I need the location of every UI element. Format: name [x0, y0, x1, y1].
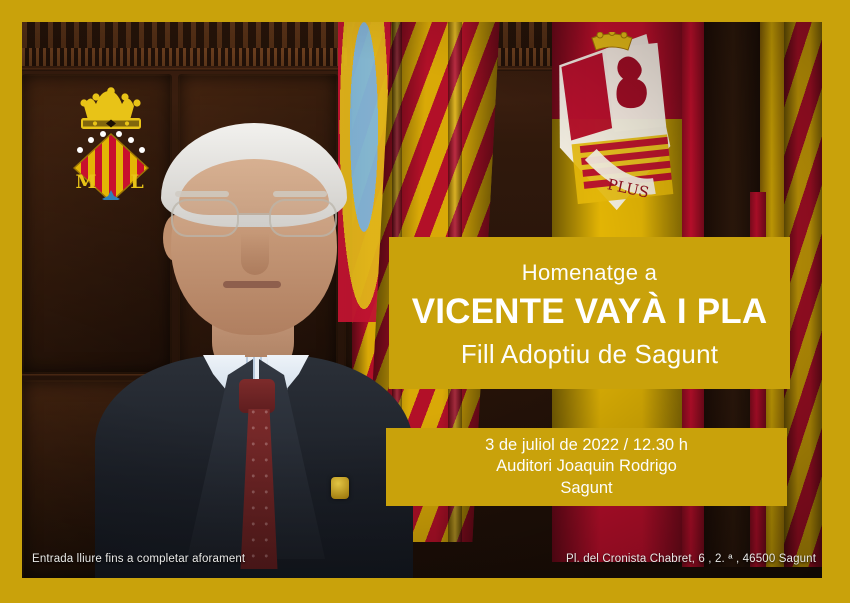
spanish-coat-of-arms: PLUS: [548, 32, 678, 232]
lens-left: [171, 199, 239, 237]
main-title-panel: Homenatge a VICENTE VAYÀ I PLA Fill Adop…: [389, 237, 790, 389]
mouth: [223, 281, 281, 288]
event-city: Sagunt: [386, 478, 787, 499]
eyebrow-text: Homenatge a: [389, 261, 790, 285]
crest-letter-right: L: [130, 171, 143, 193]
honoree-subtitle: Fill Adoptiu de Sagunt: [389, 340, 790, 369]
glasses-bridge: [239, 213, 269, 215]
lens-right: [269, 199, 337, 237]
footer-right-text: Pl. del Cronista Chabret, 6 , 2. ª , 465…: [566, 553, 816, 565]
event-details-panel: 3 de juliol de 2022 / 12.30 h Auditori J…: [386, 428, 787, 506]
event-venue: Auditori Joaquin Rodrigo: [386, 456, 787, 477]
honoree-name: VICENTE VAYÀ I PLA: [389, 294, 790, 331]
eyebrow-right: [273, 191, 327, 197]
escut-de-sagunt-icon: M L: [62, 72, 160, 200]
lapel-pin-icon: [331, 477, 349, 499]
eyeglasses: [169, 199, 339, 239]
crown-icon: [80, 87, 141, 129]
footer-left-text: Entrada lliure fins a completar aforamen…: [32, 553, 245, 565]
event-date: 3 de juliol de 2022 / 12.30 h: [386, 435, 787, 456]
nose: [241, 233, 269, 275]
eyebrow-left: [175, 191, 229, 197]
crest-letter-left: M: [75, 171, 96, 193]
poster: PLUS: [0, 0, 850, 603]
tie-knot: [239, 379, 275, 413]
